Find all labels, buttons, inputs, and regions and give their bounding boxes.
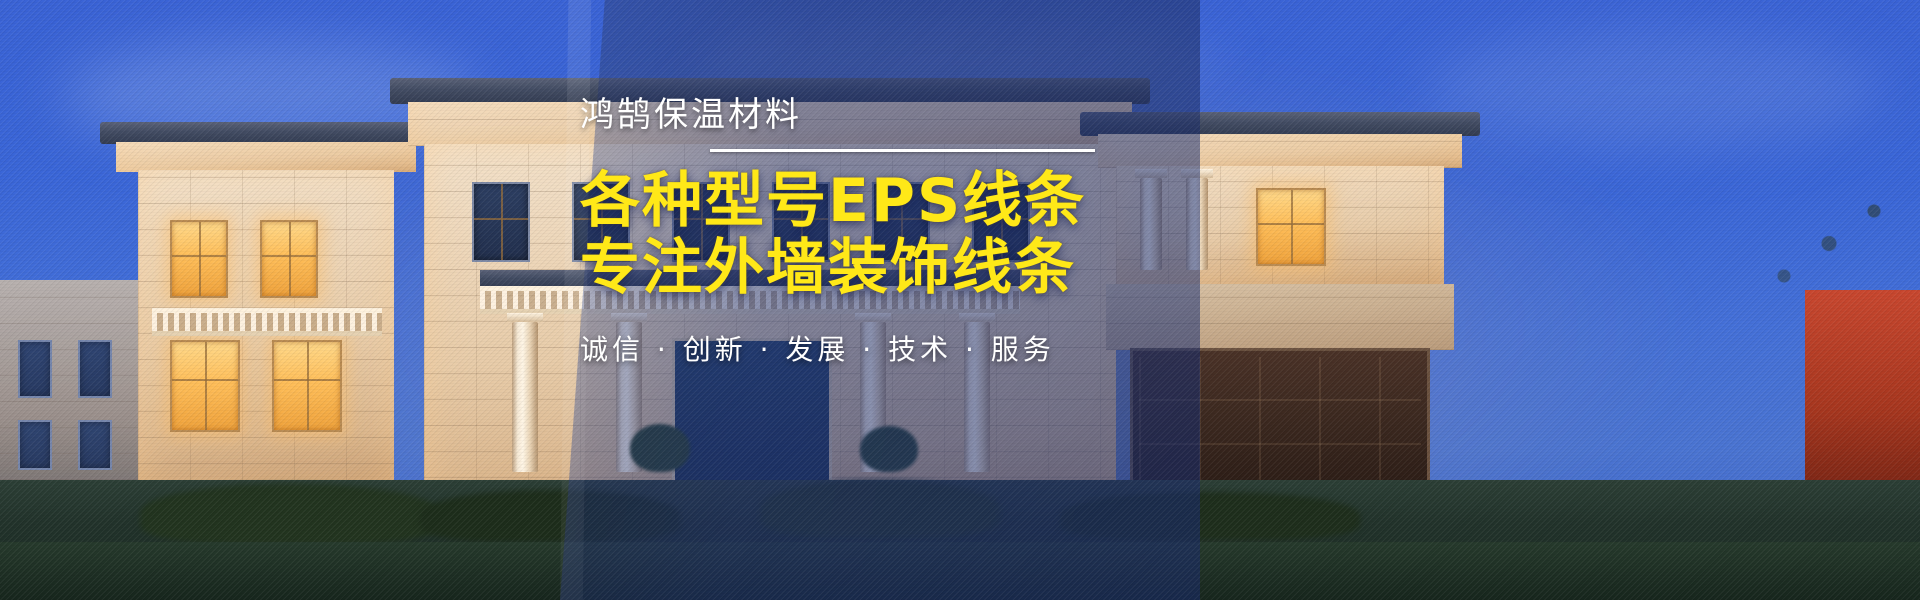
headline-line-2: 专注外墙装饰线条: [580, 235, 1140, 302]
banner-copy: 鸿鹄保温材料 各种型号EPS线条 专注外墙装饰线条 诚信 · 创新 · 发展 ·…: [580, 96, 1140, 368]
brand-eyebrow: 鸿鹄保温材料: [580, 96, 1140, 135]
headline: 各种型号EPS线条 专注外墙装饰线条: [580, 168, 1140, 302]
headline-line-1: 各种型号EPS线条: [580, 166, 1086, 236]
red-container-right: [1805, 290, 1920, 485]
tree-branch: [1730, 185, 1910, 315]
tagline: 诚信 · 创新 · 发展 · 技术 · 服务: [580, 328, 1140, 368]
divider-rule: [710, 149, 1095, 152]
hero-banner: 鸿鹄保温材料 各种型号EPS线条 专注外墙装饰线条 诚信 · 创新 · 发展 ·…: [0, 0, 1920, 600]
